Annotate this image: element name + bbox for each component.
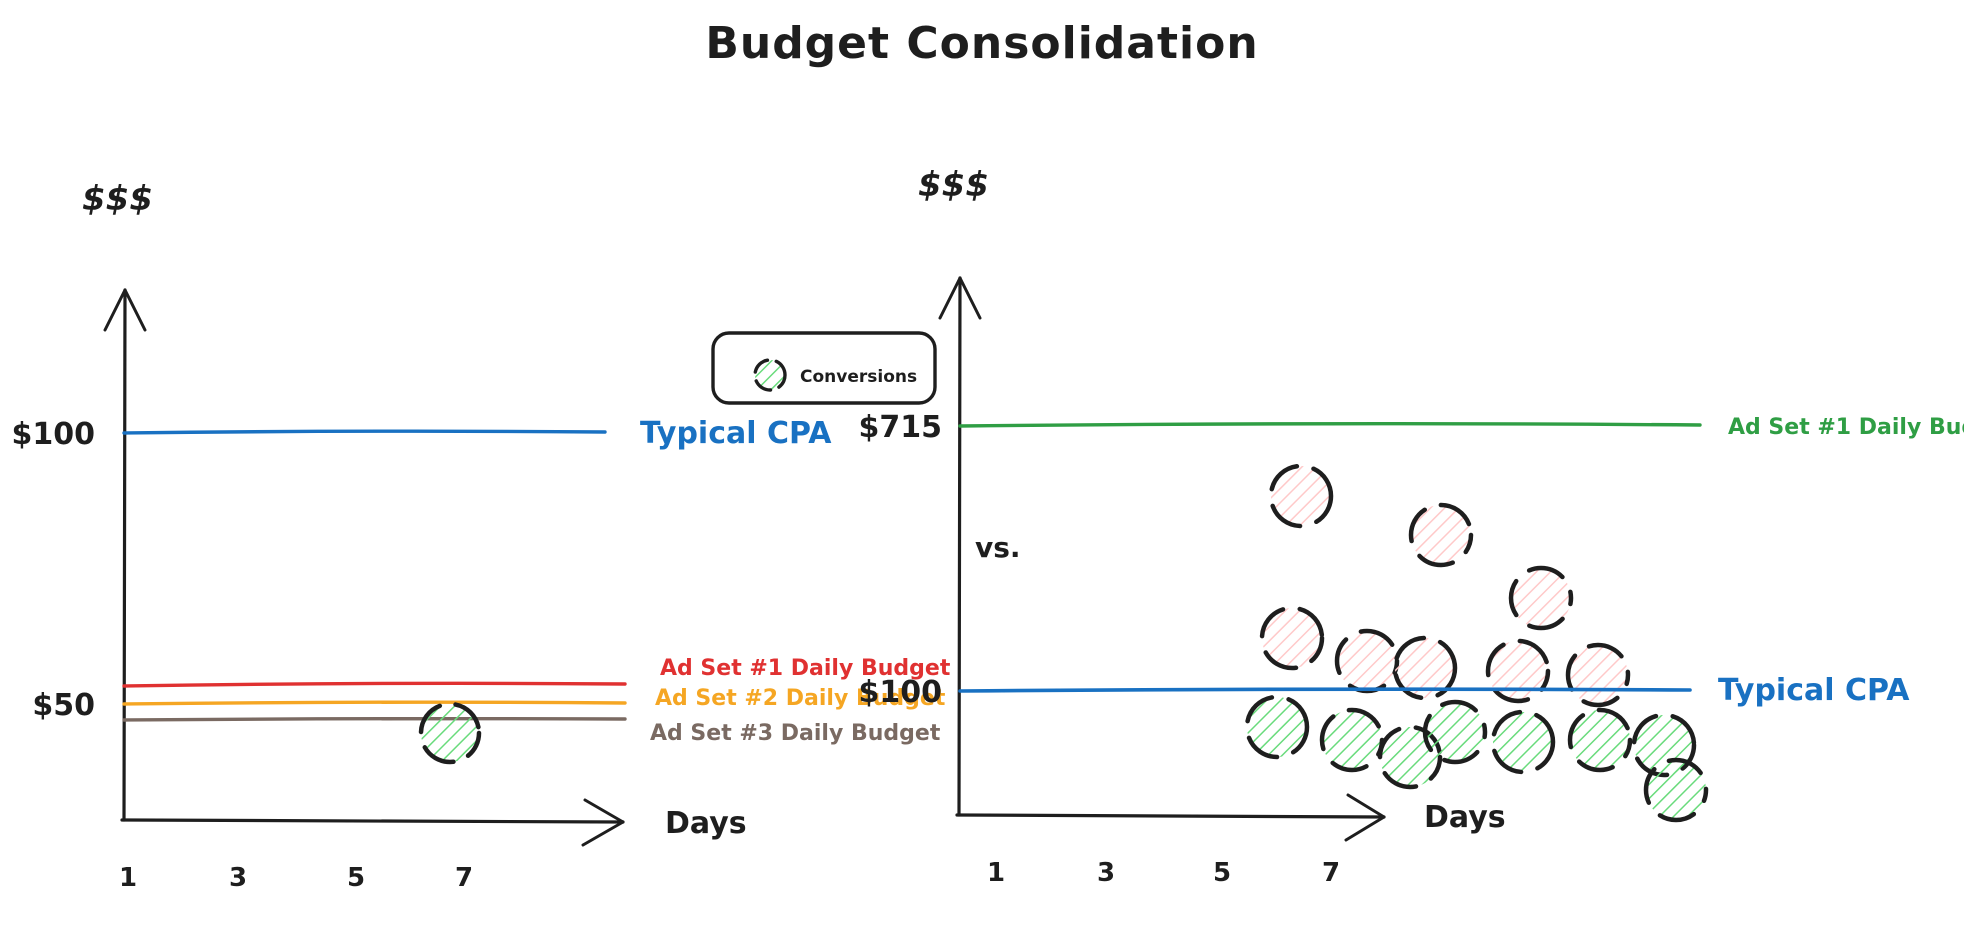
conversions-legend-label: Conversions xyxy=(800,367,917,387)
diagram-svg: Budget Consolidation $$$ Days $100 $50 1… xyxy=(0,0,1964,939)
left-chart-xtick-1: 1 xyxy=(119,863,137,893)
right-chart-ytick-100: $100 xyxy=(859,675,943,710)
right-chart-xtick-3: 3 xyxy=(1097,858,1115,888)
conversion-bubble-good xyxy=(1322,710,1382,770)
right-chart-xtick-7: 7 xyxy=(1322,858,1340,888)
right-chart-ytick-715: $715 xyxy=(859,410,943,445)
right-chart-line-ad-set-1 xyxy=(960,424,1700,426)
left-chart-y-axis-caption: $$$ xyxy=(82,179,153,219)
left-chart-xtick-7: 7 xyxy=(455,863,473,893)
conversion-bubble-good xyxy=(1425,702,1485,762)
left-chart-line-ad-set-1 xyxy=(124,683,625,686)
conversion-bubble-bad xyxy=(1271,466,1331,526)
right-chart-xtick-1: 1 xyxy=(987,858,1005,888)
left-chart-conversion-bubble xyxy=(421,704,479,762)
left-chart-label-typical-cpa: Typical CPA xyxy=(640,416,832,451)
conversion-bubble-bad xyxy=(1511,568,1571,628)
left-chart-ytick-100: $100 xyxy=(12,417,96,452)
right-chart-xtick-5: 5 xyxy=(1213,858,1231,888)
right-chart-x-axis-caption: Days xyxy=(1424,800,1506,835)
right-chart-bubbles-above-cpa xyxy=(1262,466,1628,705)
conversion-bubble-good xyxy=(1570,710,1630,770)
conversion-bubble-bad xyxy=(1568,645,1628,705)
left-chart-label-ad-set-3: Ad Set #3 Daily Budget xyxy=(650,721,941,746)
conversion-bubble-good xyxy=(1493,712,1553,772)
dashed-circle-icon xyxy=(755,360,785,390)
left-chart-xtick-5: 5 xyxy=(347,863,365,893)
conversion-bubble-good xyxy=(1646,760,1706,820)
right-chart-label-typical-cpa: Typical CPA xyxy=(1718,673,1910,708)
right-chart-y-axis-caption: $$$ xyxy=(918,165,989,205)
conversion-bubble-bad xyxy=(1337,631,1397,691)
left-chart-line-typical-cpa xyxy=(124,431,605,433)
conversions-legend-box[interactable]: Conversions xyxy=(713,333,935,403)
left-chart-x-axis-caption: Days xyxy=(665,806,747,841)
conversion-bubble-good xyxy=(1247,697,1307,757)
left-chart-line-ad-set-2 xyxy=(124,702,625,704)
comparator-label: vs. xyxy=(975,531,1021,564)
conversion-bubble-bad xyxy=(1488,641,1548,701)
left-chart-line-ad-set-3 xyxy=(124,719,625,720)
page-title: Budget Consolidation xyxy=(705,18,1258,69)
right-chart-line-typical-cpa xyxy=(960,689,1690,691)
left-chart-axes xyxy=(105,290,623,845)
conversion-bubble-bad xyxy=(1262,608,1322,668)
whiteboard-canvas: Budget Consolidation $$$ Days $100 $50 1… xyxy=(0,0,1964,939)
left-chart-xtick-3: 3 xyxy=(229,863,247,893)
right-chart-label-ad-set-1: Ad Set #1 Daily Budget xyxy=(1728,415,1964,440)
left-chart-ytick-50: $50 xyxy=(32,688,95,723)
conversion-bubble-bad xyxy=(1411,505,1471,565)
